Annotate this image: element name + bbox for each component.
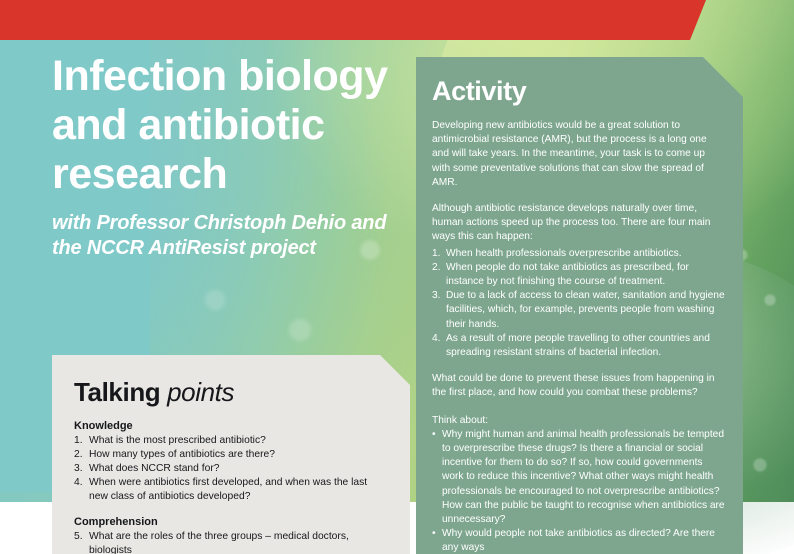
list-item: 1.When health professionals overprescrib… — [432, 247, 725, 261]
page-title: Infection biology and antibiotic researc… — [52, 52, 402, 199]
activity-title: Activity — [432, 75, 725, 107]
talking-points-list-comprehension: 5.What are the roles of the three groups… — [74, 530, 386, 554]
activity-intro-paragraph: Developing new antibiotics would be a gr… — [432, 119, 725, 190]
activity-causes-list: 1.When health professionals overprescrib… — [432, 247, 725, 361]
list-item-text: What is the most prescribed antibiotic? — [89, 435, 266, 446]
talking-points-heading-knowledge: Knowledge — [74, 420, 386, 432]
list-item-number: 2. — [432, 261, 446, 275]
list-item-text: Why might human and animal health profes… — [442, 429, 725, 525]
page-subtitle: with Professor Christoph Dehio and the N… — [52, 211, 402, 261]
list-item-number: 1. — [432, 247, 446, 261]
talking-points-title-italic: points — [167, 377, 234, 407]
list-item-number: 4. — [74, 476, 89, 490]
activity-panel: Activity Developing new antibiotics woul… — [416, 57, 743, 554]
list-item-bullet: • — [432, 527, 442, 541]
list-item-number: 5. — [74, 530, 89, 544]
activity-prompt-paragraph: What could be done to prevent these issu… — [432, 372, 725, 400]
list-item: 3.Due to a lack of access to clean water… — [432, 289, 725, 332]
list-item-text: As a result of more people travelling to… — [446, 333, 710, 358]
list-item: 2.When people do not take antibiotics as… — [432, 261, 725, 289]
activity-lead-in-paragraph: Although antibiotic resistance develops … — [432, 202, 725, 245]
list-item-text: Due to a lack of access to clean water, … — [446, 290, 725, 329]
talking-points-title-bold: Talking — [74, 377, 160, 407]
list-item: 1.What is the most prescribed antibiotic… — [74, 434, 386, 448]
list-item-text: What does NCCR stand for? — [89, 463, 219, 474]
talking-points-list-knowledge: 1.What is the most prescribed antibiotic… — [74, 434, 386, 503]
list-item-number: 4. — [432, 332, 446, 346]
list-item-text: How many types of antibiotics are there? — [89, 449, 275, 460]
list-item: •Why would people not take antibiotics a… — [432, 527, 725, 554]
list-item: 4.As a result of more people travelling … — [432, 332, 725, 360]
top-red-banner — [0, 0, 706, 40]
list-item-text: When were antibiotics first developed, a… — [89, 477, 367, 502]
activity-think-about-label: Think about: — [432, 414, 725, 428]
talking-points-heading-comprehension: Comprehension — [74, 516, 386, 528]
hero-block: Infection biology and antibiotic researc… — [52, 52, 402, 261]
talking-points-card: Talking points Knowledge 1.What is the m… — [52, 355, 410, 554]
list-item-text: When people do not take antibiotics as p… — [446, 262, 689, 287]
list-item-number: 1. — [74, 434, 89, 448]
list-item-number: 2. — [74, 448, 89, 462]
activity-think-about-list: •Why might human and animal health profe… — [432, 428, 725, 554]
list-item: 3.What does NCCR stand for? — [74, 462, 386, 476]
list-item: 2.How many types of antibiotics are ther… — [74, 448, 386, 462]
list-item: 4.When were antibiotics first developed,… — [74, 476, 386, 503]
list-item: •Why might human and animal health profe… — [432, 428, 725, 527]
list-item-text: Why would people not take antibiotics as… — [442, 528, 715, 553]
list-item-number: 3. — [432, 289, 446, 303]
talking-points-title: Talking points — [74, 377, 386, 407]
list-item-bullet: • — [432, 428, 442, 442]
list-item-text: When health professionals overprescribe … — [446, 248, 682, 259]
list-item-number: 3. — [74, 462, 89, 476]
list-item: 5.What are the roles of the three groups… — [74, 530, 386, 554]
list-item-text: What are the roles of the three groups –… — [89, 531, 349, 554]
